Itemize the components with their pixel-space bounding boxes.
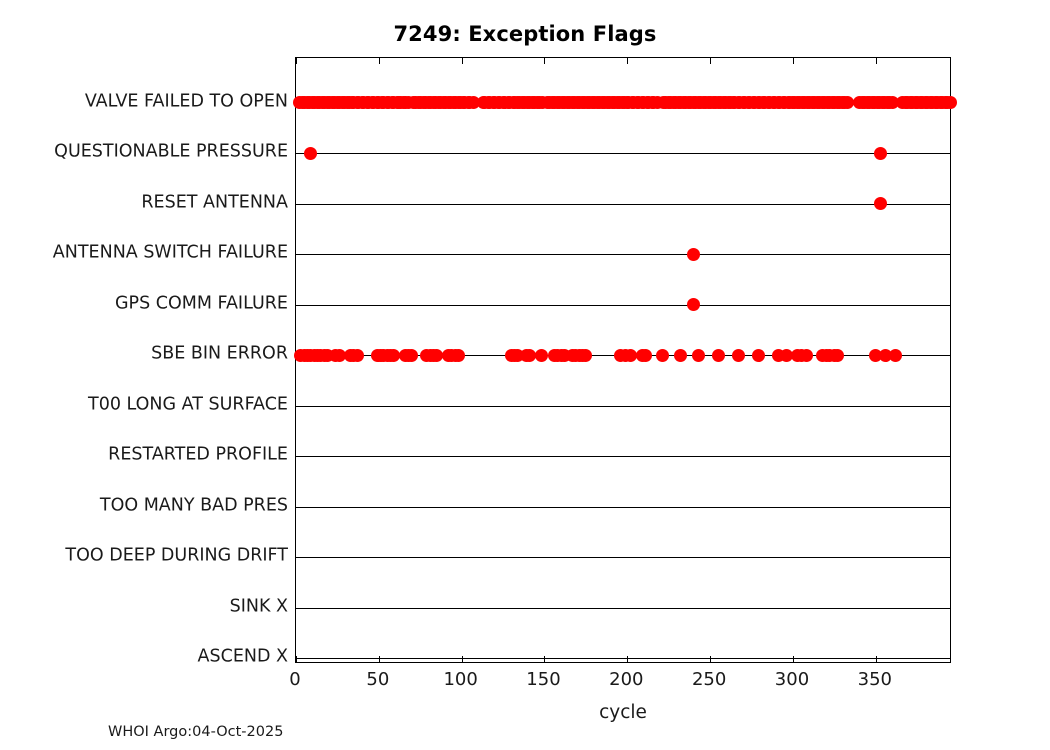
y-axis-tick — [296, 305, 302, 306]
category-baseline — [296, 507, 950, 508]
y-axis-tick — [944, 254, 950, 255]
data-point — [874, 197, 887, 210]
y-axis-label-reset-antenna: RESET ANTENNA — [0, 194, 288, 212]
category-baseline — [296, 557, 950, 558]
y-axis-category-labels: VALVE FAILED TO OPENQUESTIONABLE PRESSUR… — [0, 57, 288, 663]
y-axis-tick — [296, 204, 302, 205]
x-axis-tick — [379, 58, 380, 64]
footer-note: WHOI Argo:04-Oct-2025 — [108, 724, 283, 740]
x-axis-tick-label: 50 — [366, 669, 389, 690]
y-axis-tick — [944, 456, 950, 457]
y-axis-label-sink-x: SINK X — [0, 598, 288, 616]
data-point — [889, 349, 902, 362]
x-axis-tick — [462, 58, 463, 64]
data-point — [535, 349, 548, 362]
data-point — [732, 349, 745, 362]
x-axis-tick — [793, 58, 794, 64]
y-axis-tick — [296, 456, 302, 457]
y-axis-tick — [944, 406, 950, 407]
y-axis-tick — [296, 557, 302, 558]
data-point — [874, 147, 887, 160]
y-axis-label-t00-long-at-surface: T00 LONG AT SURFACE — [0, 396, 288, 414]
x-axis-tick — [793, 656, 794, 662]
x-axis-tick — [544, 58, 545, 64]
data-point — [692, 349, 705, 362]
category-baseline — [296, 406, 950, 407]
y-axis-label-too-deep-during-drift: TOO DEEP DURING DRIFT — [0, 547, 288, 565]
y-axis-tick — [944, 153, 950, 154]
y-axis-tick — [944, 608, 950, 609]
category-baseline — [296, 305, 950, 306]
y-axis-label-restarted-profile: RESTARTED PROFILE — [0, 446, 288, 464]
y-axis-label-too-many-bad-pres: TOO MANY BAD PRES — [0, 497, 288, 515]
x-axis-label: cycle — [295, 702, 951, 723]
category-baseline — [296, 153, 950, 154]
x-axis-tick — [876, 58, 877, 64]
data-point — [304, 147, 317, 160]
y-axis-label-sbe-bin-error: SBE BIN ERROR — [0, 345, 288, 363]
y-axis-tick — [296, 153, 302, 154]
x-axis-tick-label: 250 — [692, 669, 726, 690]
x-axis-tick — [379, 656, 380, 662]
y-axis-tick — [296, 254, 302, 255]
plot-area — [295, 57, 951, 663]
data-point — [687, 248, 700, 261]
x-axis-tick — [710, 656, 711, 662]
y-axis-tick — [944, 507, 950, 508]
data-point — [351, 349, 364, 362]
y-axis-tick — [944, 355, 950, 356]
x-axis-tick-label: 0 — [289, 669, 300, 690]
exception-flags-figure: 7249: Exception Flags VALVE FAILED TO OP… — [0, 0, 1050, 750]
data-point — [800, 349, 813, 362]
x-axis-tick-label: 300 — [775, 669, 809, 690]
data-point — [687, 298, 700, 311]
category-baseline — [296, 608, 950, 609]
category-baseline — [296, 254, 950, 255]
data-point — [656, 349, 669, 362]
x-axis-tick — [296, 58, 297, 64]
y-axis-tick — [296, 406, 302, 407]
x-axis-tick — [876, 656, 877, 662]
x-axis-tick-label: 150 — [526, 669, 560, 690]
y-axis-label-questionable-pressure: QUESTIONABLE PRESSURE — [0, 143, 288, 161]
y-axis-label-valve-failed-to-open: VALVE FAILED TO OPEN — [0, 93, 288, 111]
y-axis-tick — [944, 658, 950, 659]
x-axis-tick — [710, 58, 711, 64]
data-point — [639, 349, 652, 362]
chart-title: 7249: Exception Flags — [0, 22, 1050, 46]
data-point — [944, 96, 957, 109]
data-point — [452, 349, 465, 362]
y-axis-label-antenna-switch-failure: ANTENNA SWITCH FAILURE — [0, 244, 288, 262]
x-axis-tick — [296, 656, 297, 662]
x-axis-tick — [627, 58, 628, 64]
y-axis-label-gps-comm-failure: GPS COMM FAILURE — [0, 295, 288, 313]
x-axis-tick — [627, 656, 628, 662]
x-axis-tick — [544, 656, 545, 662]
x-axis-tick-label: 200 — [609, 669, 643, 690]
data-point — [831, 349, 844, 362]
x-axis-tick — [462, 656, 463, 662]
y-axis-tick — [296, 608, 302, 609]
data-point — [579, 349, 592, 362]
y-axis-label-ascend-x: ASCEND X — [0, 648, 288, 666]
y-axis-tick — [944, 204, 950, 205]
category-baseline — [296, 658, 950, 659]
category-baseline — [296, 456, 950, 457]
data-point — [752, 349, 765, 362]
data-point — [674, 349, 687, 362]
y-axis-tick — [944, 557, 950, 558]
y-axis-tick — [296, 507, 302, 508]
data-point — [712, 349, 725, 362]
x-axis-tick-label: 350 — [858, 669, 892, 690]
x-axis-tick-label: 100 — [443, 669, 477, 690]
y-axis-tick — [944, 305, 950, 306]
data-point — [405, 349, 418, 362]
category-baseline — [296, 204, 950, 205]
